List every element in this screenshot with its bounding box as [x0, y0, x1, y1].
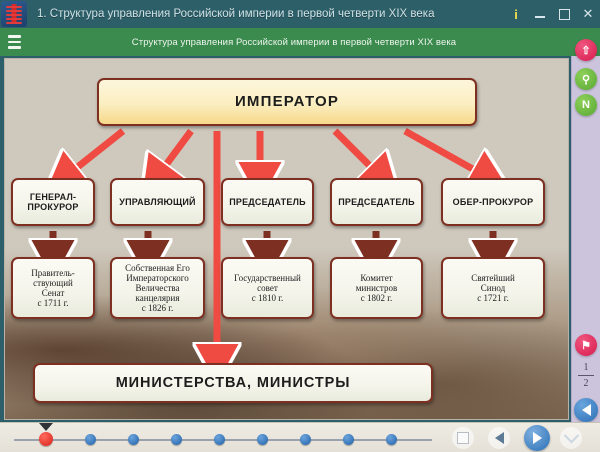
node-organ-gossovet-label: Государственныйсоветс 1810 г. [231, 271, 304, 305]
prev-page-button[interactable] [574, 398, 598, 422]
lesson-title: Структура управления Российской империи … [28, 37, 600, 48]
hamburger-icon[interactable] [0, 28, 28, 56]
org-chart-diagram: ИМПЕРАТОР ГЕНЕРАЛ-ПРОКУРОР УПРАВЛЯЮЩИЙ П… [5, 59, 568, 419]
node-role-predsedatel-2-label: ПРЕДСЕДАТЕЛЬ [335, 195, 418, 209]
minimize-button[interactable] [528, 1, 552, 27]
app-icon [1, 1, 27, 27]
page-total: 2 [572, 377, 600, 390]
node-role-upravlyayushchiy[interactable]: УПРАВЛЯЮЩИЙ [110, 178, 205, 226]
node-role-ober-prokuror[interactable]: ОБЕР-ПРОКУРОР [441, 178, 545, 226]
right-toolbar: ⇧ ⚲ N ⚑ 1 2 [571, 56, 600, 428]
download-button[interactable] [560, 427, 582, 449]
upload-arrow-icon[interactable]: ⇧ [575, 39, 597, 61]
node-emperor[interactable]: ИМПЕРАТОР [97, 78, 477, 126]
play-button[interactable] [524, 425, 550, 451]
stop-button[interactable] [452, 427, 474, 449]
timeline-step-7[interactable] [300, 434, 311, 445]
timeline-step-4[interactable] [171, 434, 182, 445]
search-key-icon[interactable]: ⚲ [575, 68, 597, 90]
title-bar: 1. Структура управления Российской импер… [0, 0, 600, 28]
node-organ-senat[interactable]: Правитель-ствующийСенатс 1711 г. [11, 257, 95, 319]
node-emperor-label: ИМПЕРАТОР [232, 92, 342, 113]
rewind-button[interactable] [488, 427, 510, 449]
node-role-predsedatel-1-label: ПРЕДСЕДАТЕЛЬ [226, 195, 309, 209]
info-button[interactable]: i [504, 1, 528, 27]
node-organ-komitet-ministrov-label: Комитетминистровс 1802 г. [353, 271, 400, 305]
node-role-ober-prokuror-label: ОБЕР-ПРОКУРОР [450, 195, 537, 209]
slide-canvas: ИМПЕРАТОР ГЕНЕРАЛ-ПРОКУРОР УПРАВЛЯЮЩИЙ П… [4, 58, 569, 420]
close-button[interactable]: ✕ [576, 1, 600, 27]
node-organ-komitet-ministrov[interactable]: Комитетминистровс 1802 г. [330, 257, 423, 319]
node-organ-sinod[interactable]: СвятейшийСинодс 1721 г. [441, 257, 545, 319]
timeline-step-9[interactable] [386, 434, 397, 445]
node-role-predsedatel-2[interactable]: ПРЕДСЕДАТЕЛЬ [330, 178, 423, 226]
node-organ-sinod-label: СвятейшийСинодс 1721 г. [468, 271, 518, 305]
note-icon[interactable]: N [575, 94, 597, 116]
page-indicator: 1 2 [572, 361, 600, 390]
timeline-step-8[interactable] [343, 434, 354, 445]
node-ministries[interactable]: МИНИСТЕРСТВА, МИНИСТРЫ [33, 363, 433, 403]
step-timeline[interactable] [8, 423, 438, 452]
node-ministries-label: МИНИСТЕРСТВА, МИНИСТРЫ [113, 373, 354, 393]
timeline-step-2[interactable] [85, 434, 96, 445]
timeline-step-1[interactable] [39, 432, 53, 446]
flag-icon[interactable]: ⚑ [575, 334, 597, 356]
node-role-general-prokuror-label: ГЕНЕРАЛ-ПРОКУРОР [24, 190, 81, 214]
application-window: 1. Структура управления Российской импер… [0, 0, 600, 452]
sub-header: Структура управления Российской империи … [0, 28, 600, 56]
timeline-step-5[interactable] [214, 434, 225, 445]
maximize-button[interactable] [552, 1, 576, 27]
node-role-upravlyayushchiy-label: УПРАВЛЯЮЩИЙ [116, 195, 198, 209]
timeline-step-3[interactable] [128, 434, 139, 445]
node-organ-kantselyariya-label: Собственная ЕгоИмператорскогоВеличествак… [122, 261, 193, 315]
timeline-marker[interactable] [39, 423, 53, 431]
node-organ-gossovet[interactable]: Государственныйсоветс 1810 г. [221, 257, 314, 319]
node-organ-kantselyariya[interactable]: Собственная ЕгоИмператорскогоВеличествак… [110, 257, 205, 319]
bottom-toolbar [0, 422, 600, 452]
timeline-step-6[interactable] [257, 434, 268, 445]
node-role-general-prokuror[interactable]: ГЕНЕРАЛ-ПРОКУРОР [11, 178, 95, 226]
page-current: 1 [572, 361, 600, 374]
node-organ-senat-label: Правитель-ствующийСенатс 1711 г. [28, 266, 78, 310]
window-title: 1. Структура управления Российской импер… [37, 8, 504, 20]
node-role-predsedatel-1[interactable]: ПРЕДСЕДАТЕЛЬ [221, 178, 314, 226]
